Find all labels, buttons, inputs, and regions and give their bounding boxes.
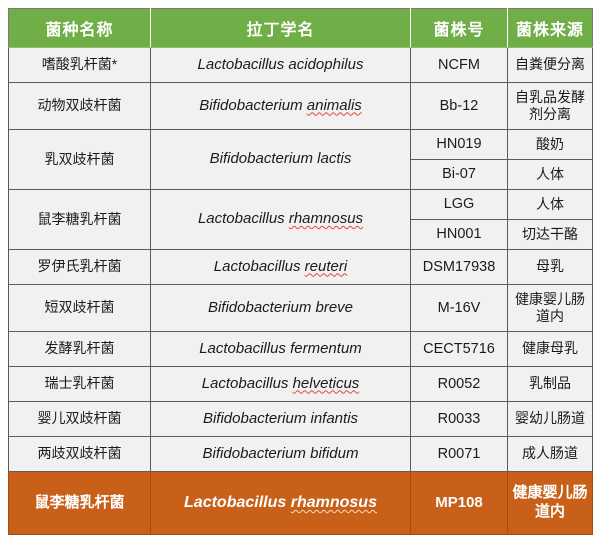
cell-latin-name: Lactobacillus rhamnosus	[151, 472, 411, 535]
cell-strain-source: 自乳品发酵剂分离	[508, 83, 593, 130]
cell-strain-number: Bi-07	[411, 160, 508, 190]
spellcheck-flagged-word: helveticus	[293, 375, 360, 392]
cell-strain-number: LGG	[411, 190, 508, 220]
table-row: 瑞士乳杆菌Lactobacillus helveticusR0052乳制品	[9, 367, 593, 402]
cell-species-name: 婴儿双歧杆菌	[9, 402, 151, 437]
header-cell-latin-name: 拉丁学名	[151, 9, 411, 48]
table-row: 发酵乳杆菌Lactobacillus fermentumCECT5716健康母乳	[9, 332, 593, 367]
header-cell-strain-source: 菌株来源	[508, 9, 593, 48]
cell-species-name: 鼠李糖乳杆菌	[9, 472, 151, 535]
cell-strain-source: 母乳	[508, 250, 593, 285]
cell-species-name: 鼠李糖乳杆菌	[9, 190, 151, 250]
cell-strain-source: 健康婴儿肠道内	[508, 472, 593, 535]
spellcheck-flagged-word: reuteri	[305, 258, 348, 275]
cell-strain-number: HN001	[411, 220, 508, 250]
cell-species-name: 乳双歧杆菌	[9, 130, 151, 190]
spellcheck-flagged-word: rhamnosus	[289, 210, 363, 227]
cell-species-name: 罗伊氏乳杆菌	[9, 250, 151, 285]
cell-strain-source: 成人肠道	[508, 437, 593, 472]
cell-strain-number: Bb-12	[411, 83, 508, 130]
cell-species-name: 瑞士乳杆菌	[9, 367, 151, 402]
cell-species-name: 短双歧杆菌	[9, 285, 151, 332]
cell-latin-name: Lactobacillus rhamnosus	[151, 190, 411, 250]
cell-latin-name: Lactobacillus helveticus	[151, 367, 411, 402]
cell-strain-source: 人体	[508, 160, 593, 190]
cell-strain-number: M-16V	[411, 285, 508, 332]
header-row: 菌种名称 拉丁学名 菌株号 菌株来源	[9, 9, 593, 48]
cell-species-name: 发酵乳杆菌	[9, 332, 151, 367]
cell-species-name: 两歧双歧杆菌	[9, 437, 151, 472]
table-row: 动物双歧杆菌Bifidobacterium animalisBb-12自乳品发酵…	[9, 83, 593, 130]
cell-strain-number: CECT5716	[411, 332, 508, 367]
table-row: 鼠李糖乳杆菌Lactobacillus rhamnosusMP108健康婴儿肠道…	[9, 472, 593, 535]
cell-latin-name: Bifidobacterium infantis	[151, 402, 411, 437]
table-row: 两歧双歧杆菌Bifidobacterium bifidumR0071成人肠道	[9, 437, 593, 472]
table-header: 菌种名称 拉丁学名 菌株号 菌株来源	[9, 9, 593, 48]
spellcheck-flagged-word: rhamnosus	[291, 494, 377, 511]
cell-strain-source: 健康婴儿肠道内	[508, 285, 593, 332]
cell-strain-source: 酸奶	[508, 130, 593, 160]
header-cell-strain-number: 菌株号	[411, 9, 508, 48]
cell-strain-source: 乳制品	[508, 367, 593, 402]
table-row: 短双歧杆菌Bifidobacterium breveM-16V健康婴儿肠道内	[9, 285, 593, 332]
spellcheck-flagged-word: animalis	[307, 97, 362, 114]
table-row: 鼠李糖乳杆菌Lactobacillus rhamnosusLGG人体	[9, 190, 593, 220]
table-row: 嗜酸乳杆菌*Lactobacillus acidophilusNCFM自粪便分离	[9, 48, 593, 83]
cell-strain-source: 自粪便分离	[508, 48, 593, 83]
cell-strain-number: R0052	[411, 367, 508, 402]
header-cell-species-name: 菌种名称	[9, 9, 151, 48]
cell-latin-name: Bifidobacterium breve	[151, 285, 411, 332]
cell-strain-number: MP108	[411, 472, 508, 535]
cell-strain-source: 婴幼儿肠道	[508, 402, 593, 437]
cell-strain-number: R0033	[411, 402, 508, 437]
cell-latin-name: Lactobacillus reuteri	[151, 250, 411, 285]
cell-species-name: 嗜酸乳杆菌*	[9, 48, 151, 83]
probiotic-strain-table: 菌种名称 拉丁学名 菌株号 菌株来源 嗜酸乳杆菌*Lactobacillus a…	[8, 8, 593, 535]
table-row: 罗伊氏乳杆菌Lactobacillus reuteriDSM17938母乳	[9, 250, 593, 285]
table-row: 婴儿双歧杆菌Bifidobacterium infantisR0033婴幼儿肠道	[9, 402, 593, 437]
cell-species-name: 动物双歧杆菌	[9, 83, 151, 130]
cell-strain-source: 切达干酪	[508, 220, 593, 250]
cell-strain-number: HN019	[411, 130, 508, 160]
cell-strain-number: R0071	[411, 437, 508, 472]
cell-strain-source: 健康母乳	[508, 332, 593, 367]
cell-latin-name: Bifidobacterium bifidum	[151, 437, 411, 472]
table-body: 嗜酸乳杆菌*Lactobacillus acidophilusNCFM自粪便分离…	[9, 48, 593, 535]
cell-latin-name: Bifidobacterium lactis	[151, 130, 411, 190]
table-row: 乳双歧杆菌Bifidobacterium lactisHN019酸奶	[9, 130, 593, 160]
cell-latin-name: Lactobacillus fermentum	[151, 332, 411, 367]
cell-latin-name: Lactobacillus acidophilus	[151, 48, 411, 83]
cell-latin-name: Bifidobacterium animalis	[151, 83, 411, 130]
cell-strain-number: NCFM	[411, 48, 508, 83]
table-sheet: 菌种名称 拉丁学名 菌株号 菌株来源 嗜酸乳杆菌*Lactobacillus a…	[0, 0, 600, 501]
cell-strain-source: 人体	[508, 190, 593, 220]
cell-strain-number: DSM17938	[411, 250, 508, 285]
